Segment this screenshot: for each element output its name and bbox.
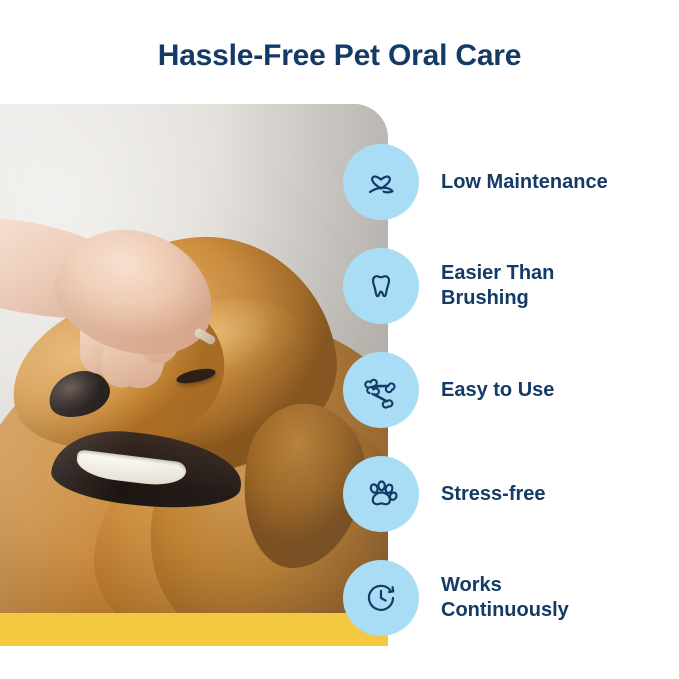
feature-label: Easy to Use xyxy=(441,378,554,403)
feature-label: Easier Than Brushing xyxy=(441,261,631,311)
feature-item-stress-free: Stress-free xyxy=(343,442,679,546)
feature-item-works-continuously: Works Continuously xyxy=(343,546,679,650)
clock-icon xyxy=(343,560,419,636)
tooth-icon xyxy=(343,248,419,324)
feature-item-easy-to-use: Easy to Use xyxy=(343,338,679,442)
photo-shadow-overlay xyxy=(0,104,388,646)
feature-label: Low Maintenance xyxy=(441,170,608,195)
heart-leaf-icon xyxy=(343,144,419,220)
feature-item-low-maintenance: Low Maintenance xyxy=(343,130,679,234)
dog-bones-icon xyxy=(343,352,419,428)
paw-print-icon xyxy=(343,456,419,532)
yellow-bottom-band xyxy=(0,613,388,646)
feature-label: Stress-free xyxy=(441,482,546,507)
feature-item-easier-than-brushing: Easier Than Brushing xyxy=(343,234,679,338)
feature-label: Works Continuously xyxy=(441,573,631,623)
feature-list: Low Maintenance Easier Than Brushing xyxy=(343,130,679,650)
dog-photo xyxy=(0,104,388,646)
product-feature-poster: Hassle-Free Pet Oral Care xyxy=(0,0,679,679)
page-title: Hassle-Free Pet Oral Care xyxy=(0,38,679,74)
